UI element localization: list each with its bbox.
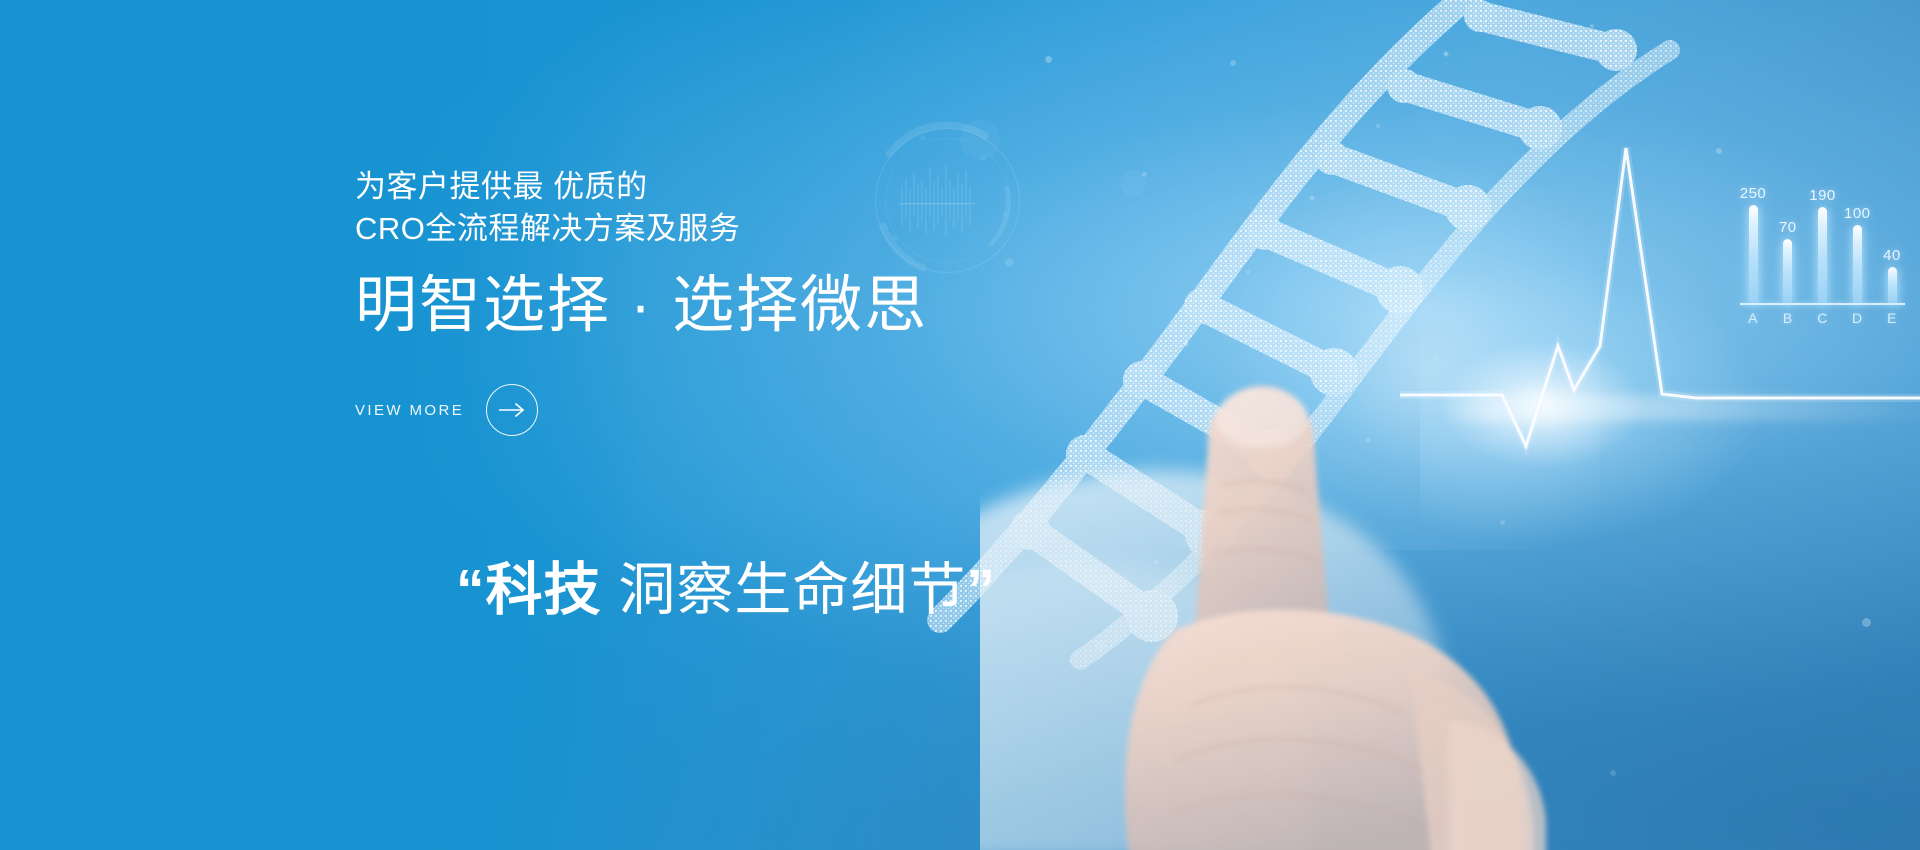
subtitle-line-2: CRO全流程解决方案及服务 xyxy=(355,208,1115,251)
subtitle-line-1: 为客户提供最 优质的 xyxy=(355,166,1115,209)
page-title: 明智选择 · 选择微思 xyxy=(355,269,1115,342)
hero-subtitle: 为客户提供最 优质的 CRO全流程解决方案及服务 xyxy=(355,166,1115,252)
quote-open-mark: “ xyxy=(456,558,486,622)
view-more-button[interactable]: VIEW MORE xyxy=(355,384,538,436)
quote-strong-text: 科技 xyxy=(486,558,602,622)
hero-banner: 250 70 190 100 40 A B C xyxy=(0,0,1920,850)
hero-quote: “科技 洞察生命细节” xyxy=(355,496,1115,684)
arrow-right-icon[interactable] xyxy=(486,384,538,436)
quote-light-text: 洞察生命细节 xyxy=(602,558,967,622)
hero-copy: 为客户提供最 优质的 CRO全流程解决方案及服务 明智选择 · 选择微思 VIE… xyxy=(355,0,1115,850)
view-more-label: VIEW MORE xyxy=(355,402,464,419)
quote-close-mark: ” xyxy=(966,558,996,622)
